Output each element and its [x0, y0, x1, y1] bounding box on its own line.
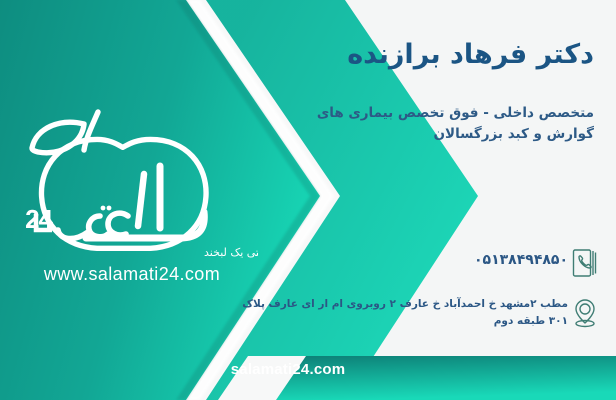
doctor-name: دکتر فرهاد برازنده [254, 38, 594, 72]
salamati24-apple-logo: 24 به راحتی یک لبخند www.salamati24.com [8, 104, 258, 284]
doctor-specialty: متخصص داخلی - فوق تخصص بیماری های گوارش … [276, 103, 594, 145]
footer-website-bar[interactable]: salamati24.com [0, 356, 616, 382]
contact-block: ۰۵۱۳۸۴۹۴۸۵۰ مطب ۲مشهد خ احمدآباد خ عارف … [242, 244, 602, 344]
phone-book-icon [568, 244, 602, 282]
map-pin-icon [568, 294, 602, 332]
business-card: 24 به راحتی یک لبخند www.salamati24.com … [0, 0, 616, 400]
footer-website-text: salamati24.com [231, 361, 346, 378]
phone-number: ۰۵۱۳۸۴۹۴۸۵۰ [242, 244, 568, 268]
logo-badge-24: 24 [25, 204, 53, 234]
logo-website: www.salamati24.com [43, 264, 220, 284]
clinic-address: مطب ۲مشهد خ احمدآباد خ عارف ۲ روبروی ام … [242, 294, 568, 331]
logo-wordmark [58, 166, 204, 239]
contact-row-address[interactable]: مطب ۲مشهد خ احمدآباد خ عارف ۲ روبروی ام … [242, 294, 602, 332]
brand-logo: 24 به راحتی یک لبخند www.salamati24.com [8, 104, 258, 284]
contact-row-phone[interactable]: ۰۵۱۳۸۴۹۴۸۵۰ [242, 244, 602, 282]
